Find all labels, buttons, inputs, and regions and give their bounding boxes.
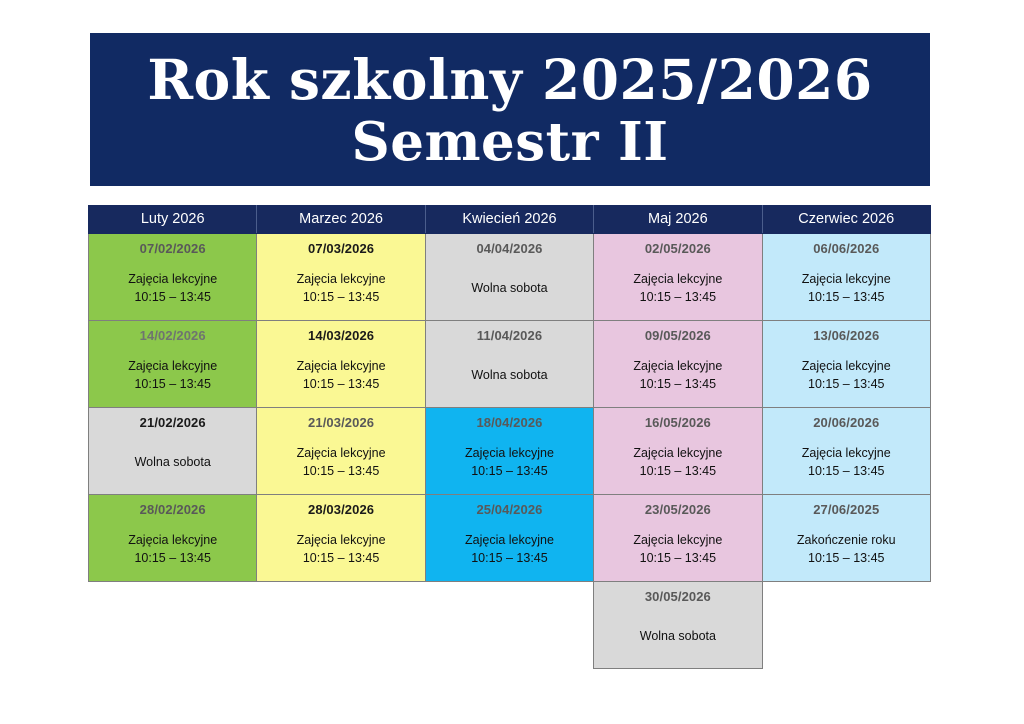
calendar-cell[interactable]: 09/05/2026Zajęcia lekcyjne10:15 – 13:45	[594, 321, 762, 408]
calendar-cell-content: 14/03/2026Zajęcia lekcyjne10:15 – 13:45	[257, 321, 424, 407]
calendar-cell[interactable]: 04/04/2026Wolna sobota	[425, 234, 593, 321]
calendar-cell-content: 28/03/2026Zajęcia lekcyjne10:15 – 13:45	[257, 495, 424, 581]
calendar-cell-description: Zajęcia lekcyjne10:15 – 13:45	[128, 531, 217, 567]
calendar-cell[interactable]: 14/02/2026Zajęcia lekcyjne10:15 – 13:45	[89, 321, 257, 408]
calendar-cell-activity: Zajęcia lekcyjne	[297, 357, 386, 375]
calendar-header: Luty 2026 Marzec 2026 Kwiecień 2026 Maj …	[89, 206, 931, 234]
calendar-cell[interactable]: 14/03/2026Zajęcia lekcyjne10:15 – 13:45	[257, 321, 425, 408]
calendar-cell-content: 21/02/2026Wolna sobota	[89, 408, 256, 494]
column-header-maj: Maj 2026	[594, 206, 762, 234]
calendar-cell-date: 14/03/2026	[308, 329, 374, 343]
calendar-cell[interactable]: 21/02/2026Wolna sobota	[89, 408, 257, 495]
calendar-cell[interactable]: 20/06/2026Zajęcia lekcyjne10:15 – 13:45	[762, 408, 930, 495]
calendar-cell-time: 10:15 – 13:45	[128, 288, 217, 306]
calendar-cell[interactable]: 28/02/2026Zajęcia lekcyjne10:15 – 13:45	[89, 495, 257, 582]
calendar-cell-time: 10:15 – 13:45	[802, 375, 891, 393]
calendar-cell-time: 10:15 – 13:45	[297, 288, 386, 306]
calendar-cell-description: Zajęcia lekcyjne10:15 – 13:45	[802, 357, 891, 393]
table-row: 21/02/2026Wolna sobota21/03/2026Zajęcia …	[89, 408, 931, 495]
calendar-cell-description: Zajęcia lekcyjne10:15 – 13:45	[633, 531, 722, 567]
calendar-cell-date: 21/03/2026	[308, 416, 374, 430]
calendar-cell-content: 23/05/2026Zajęcia lekcyjne10:15 – 13:45	[594, 495, 761, 581]
table-row: 30/05/2026Wolna sobota	[89, 582, 931, 669]
calendar-cell-time: 10:15 – 13:45	[465, 462, 554, 480]
calendar-cell-date: 09/05/2026	[645, 329, 711, 343]
banner-title-line-2: Semestr II	[351, 112, 668, 173]
calendar-cell-empty	[425, 582, 593, 669]
calendar-cell-date: 04/04/2026	[476, 242, 542, 256]
calendar-cell[interactable]: 25/04/2026Zajęcia lekcyjne10:15 – 13:45	[425, 495, 593, 582]
calendar-cell-activity: Zajęcia lekcyjne	[633, 444, 722, 462]
calendar-cell-activity: Zajęcia lekcyjne	[128, 531, 217, 549]
calendar-cell-activity: Zajęcia lekcyjne	[633, 357, 722, 375]
calendar-cell-description: Zajęcia lekcyjne10:15 – 13:45	[802, 444, 891, 480]
calendar-cell-date: 07/03/2026	[308, 242, 374, 256]
title-banner: Rok szkolny 2025/2026 Semestr II	[90, 33, 930, 186]
calendar-cell[interactable]: 27/06/2025Zakończenie roku10:15 – 13:45	[762, 495, 930, 582]
calendar-cell[interactable]: 06/06/2026Zajęcia lekcyjne10:15 – 13:45	[762, 234, 930, 321]
calendar-cell-time: 10:15 – 13:45	[128, 549, 217, 567]
banner-title-line-1: Rok szkolny 2025/2026	[147, 48, 872, 112]
calendar-cell-activity: Zajęcia lekcyjne	[802, 270, 891, 288]
calendar-cell[interactable]: 02/05/2026Zajęcia lekcyjne10:15 – 13:45	[594, 234, 762, 321]
calendar-cell-description: Wolna sobota	[135, 453, 211, 471]
calendar-cell-description: Zajęcia lekcyjne10:15 – 13:45	[633, 357, 722, 393]
calendar-cell-date: 13/06/2026	[813, 329, 879, 343]
calendar-cell-content: 07/02/2026Zajęcia lekcyjne10:15 – 13:45	[89, 234, 256, 320]
calendar-cell-activity: Zajęcia lekcyjne	[128, 357, 217, 375]
calendar-cell-date: 21/02/2026	[140, 416, 206, 430]
calendar-cell-date: 28/02/2026	[140, 503, 206, 517]
calendar-cell-date: 20/06/2026	[813, 416, 879, 430]
calendar-cell-content: 13/06/2026Zajęcia lekcyjne10:15 – 13:45	[763, 321, 930, 407]
calendar-cell-activity: Zajęcia lekcyjne	[128, 270, 217, 288]
calendar-cell-time: 10:15 – 13:45	[633, 375, 722, 393]
calendar-cell[interactable]: 07/02/2026Zajęcia lekcyjne10:15 – 13:45	[89, 234, 257, 321]
calendar-cell-time: 10:15 – 13:45	[802, 462, 891, 480]
calendar-cell-content: 30/05/2026Wolna sobota	[594, 582, 761, 668]
calendar-cell-content: 28/02/2026Zajęcia lekcyjne10:15 – 13:45	[89, 495, 256, 581]
calendar-cell-time: 10:15 – 13:45	[633, 549, 722, 567]
table-row: 14/02/2026Zajęcia lekcyjne10:15 – 13:451…	[89, 321, 931, 408]
calendar-cell-time: 10:15 – 13:45	[633, 288, 722, 306]
calendar-body: 07/02/2026Zajęcia lekcyjne10:15 – 13:450…	[89, 234, 931, 669]
calendar-cell-activity: Wolna sobota	[135, 453, 211, 471]
calendar-cell-empty	[257, 582, 425, 669]
calendar-cell-description: Zajęcia lekcyjne10:15 – 13:45	[128, 357, 217, 393]
semester-calendar-table: Luty 2026 Marzec 2026 Kwiecień 2026 Maj …	[88, 205, 931, 669]
calendar-cell-activity: Wolna sobota	[640, 627, 716, 645]
calendar-cell-description: Wolna sobota	[640, 627, 716, 645]
calendar-cell-content: 06/06/2026Zajęcia lekcyjne10:15 – 13:45	[763, 234, 930, 320]
calendar-cell-description: Zajęcia lekcyjne10:15 – 13:45	[465, 531, 554, 567]
calendar-cell-content: 11/04/2026Wolna sobota	[426, 321, 593, 407]
calendar-cell-empty	[762, 582, 930, 669]
calendar-cell-date: 07/02/2026	[140, 242, 206, 256]
calendar-cell-content: 09/05/2026Zajęcia lekcyjne10:15 – 13:45	[594, 321, 761, 407]
calendar-cell-description: Zajęcia lekcyjne10:15 – 13:45	[297, 531, 386, 567]
calendar-cell-description: Zajęcia lekcyjne10:15 – 13:45	[297, 270, 386, 306]
column-header-marzec: Marzec 2026	[257, 206, 425, 234]
calendar-cell-activity: Zajęcia lekcyjne	[802, 357, 891, 375]
calendar-cell[interactable]: 13/06/2026Zajęcia lekcyjne10:15 – 13:45	[762, 321, 930, 408]
table-row: 28/02/2026Zajęcia lekcyjne10:15 – 13:452…	[89, 495, 931, 582]
calendar-cell-time: 10:15 – 13:45	[797, 549, 896, 567]
calendar-cell-activity: Zajęcia lekcyjne	[802, 444, 891, 462]
calendar-cell-date: 11/04/2026	[477, 329, 542, 343]
column-header-luty: Luty 2026	[89, 206, 257, 234]
calendar-cell-time: 10:15 – 13:45	[297, 549, 386, 567]
calendar-cell-time: 10:15 – 13:45	[128, 375, 217, 393]
table-row: 07/02/2026Zajęcia lekcyjne10:15 – 13:450…	[89, 234, 931, 321]
calendar-cell-date: 14/02/2026	[140, 329, 206, 343]
calendar-cell-description: Wolna sobota	[471, 279, 547, 297]
calendar-cell-description: Zajęcia lekcyjne10:15 – 13:45	[297, 357, 386, 393]
calendar-cell-activity: Zajęcia lekcyjne	[633, 531, 722, 549]
calendar-cell-date: 23/05/2026	[645, 503, 711, 517]
calendar-cell-description: Zakończenie roku10:15 – 13:45	[797, 531, 896, 567]
calendar-cell-activity: Zajęcia lekcyjne	[465, 531, 554, 549]
calendar-cell-time: 10:15 – 13:45	[633, 462, 722, 480]
calendar-cell[interactable]: 18/04/2026Zajęcia lekcyjne10:15 – 13:45	[425, 408, 593, 495]
calendar-cell-content: 14/02/2026Zajęcia lekcyjne10:15 – 13:45	[89, 321, 256, 407]
calendar-cell-description: Zajęcia lekcyjne10:15 – 13:45	[802, 270, 891, 306]
calendar-cell-content: 02/05/2026Zajęcia lekcyjne10:15 – 13:45	[594, 234, 761, 320]
calendar-cell-description: Zajęcia lekcyjne10:15 – 13:45	[297, 444, 386, 480]
calendar-cell-content: 20/06/2026Zajęcia lekcyjne10:15 – 13:45	[763, 408, 930, 494]
calendar-cell-activity: Wolna sobota	[471, 366, 547, 384]
calendar-cell-content: 21/03/2026Zajęcia lekcyjne10:15 – 13:45	[257, 408, 424, 494]
calendar-cell[interactable]: 30/05/2026Wolna sobota	[594, 582, 762, 669]
calendar-cell-content: 07/03/2026Zajęcia lekcyjne10:15 – 13:45	[257, 234, 424, 320]
calendar-cell-activity: Zajęcia lekcyjne	[297, 270, 386, 288]
calendar-cell-description: Zajęcia lekcyjne10:15 – 13:45	[633, 270, 722, 306]
calendar-cell-date: 02/05/2026	[645, 242, 711, 256]
calendar-cell[interactable]: 11/04/2026Wolna sobota	[425, 321, 593, 408]
calendar-cell-activity: Zajęcia lekcyjne	[297, 531, 386, 549]
calendar-cell[interactable]: 23/05/2026Zajęcia lekcyjne10:15 – 13:45	[594, 495, 762, 582]
calendar-header-row: Luty 2026 Marzec 2026 Kwiecień 2026 Maj …	[89, 206, 931, 234]
calendar-cell-activity: Zajęcia lekcyjne	[633, 270, 722, 288]
column-header-kwiecien: Kwiecień 2026	[425, 206, 593, 234]
calendar-cell-time: 10:15 – 13:45	[297, 375, 386, 393]
calendar-cell-content: 25/04/2026Zajęcia lekcyjne10:15 – 13:45	[426, 495, 593, 581]
calendar-cell-time: 10:15 – 13:45	[297, 462, 386, 480]
calendar-cell-date: 16/05/2026	[645, 416, 711, 430]
calendar-cell-description: Zajęcia lekcyjne10:15 – 13:45	[633, 444, 722, 480]
calendar-cell-time: 10:15 – 13:45	[465, 549, 554, 567]
calendar-cell-date: 25/04/2026	[476, 503, 542, 517]
calendar-cell-description: Zajęcia lekcyjne10:15 – 13:45	[128, 270, 217, 306]
calendar-cell-date: 06/06/2026	[813, 242, 879, 256]
calendar-cell[interactable]: 07/03/2026Zajęcia lekcyjne10:15 – 13:45	[257, 234, 425, 321]
calendar-cell-activity: Wolna sobota	[471, 279, 547, 297]
calendar-cell-activity: Zakończenie roku	[797, 531, 896, 549]
calendar-cell[interactable]: 21/03/2026Zajęcia lekcyjne10:15 – 13:45	[257, 408, 425, 495]
calendar-cell-time: 10:15 – 13:45	[802, 288, 891, 306]
calendar-cell-description: Zajęcia lekcyjne10:15 – 13:45	[465, 444, 554, 480]
calendar-cell-date: 18/04/2026	[476, 416, 542, 430]
calendar-cell-activity: Zajęcia lekcyjne	[465, 444, 554, 462]
calendar-cell-date: 30/05/2026	[645, 590, 711, 604]
calendar-cell-date: 28/03/2026	[308, 503, 374, 517]
calendar-cell-content: 18/04/2026Zajęcia lekcyjne10:15 – 13:45	[426, 408, 593, 494]
calendar-cell-content: 04/04/2026Wolna sobota	[426, 234, 593, 320]
calendar-cell-description: Wolna sobota	[471, 366, 547, 384]
calendar-cell-date: 27/06/2025	[813, 503, 879, 517]
calendar-cell[interactable]: 28/03/2026Zajęcia lekcyjne10:15 – 13:45	[257, 495, 425, 582]
calendar-cell-activity: Zajęcia lekcyjne	[297, 444, 386, 462]
calendar-cell-content: 27/06/2025Zakończenie roku10:15 – 13:45	[763, 495, 930, 581]
column-header-czerwiec: Czerwiec 2026	[762, 206, 930, 234]
calendar-cell-empty	[89, 582, 257, 669]
calendar-cell-content: 16/05/2026Zajęcia lekcyjne10:15 – 13:45	[594, 408, 761, 494]
calendar-cell[interactable]: 16/05/2026Zajęcia lekcyjne10:15 – 13:45	[594, 408, 762, 495]
